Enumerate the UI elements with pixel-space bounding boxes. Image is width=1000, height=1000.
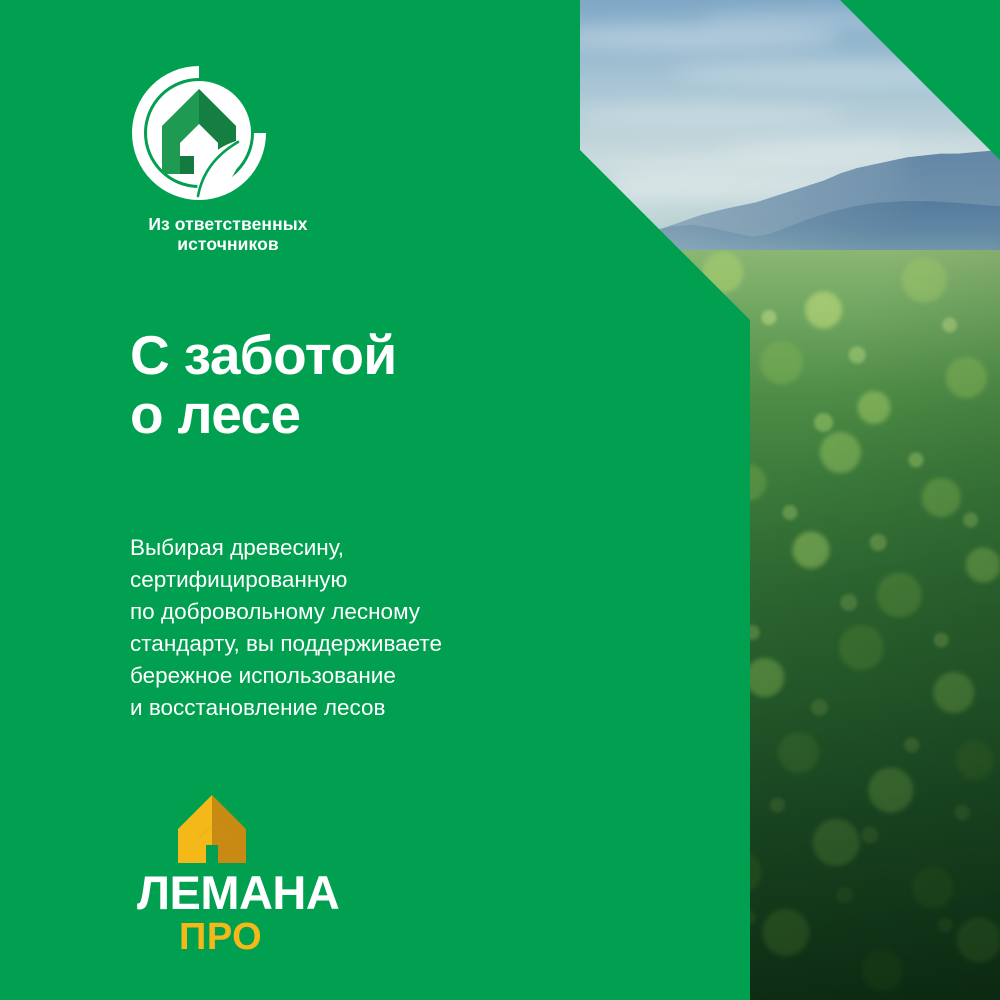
certification-badge: Из ответственных источников [128,62,358,255]
certification-badge-caption: Из ответственных источников [128,214,328,255]
headline: С заботой о лесе [130,326,397,445]
body-copy: Выбирая древесину, сертифицированную по … [130,532,442,724]
poster-content: Из ответственных источников С заботой о … [0,0,1000,1000]
brand-name: ЛЕМАНА [137,869,337,916]
poster-canvas: Из ответственных источников С заботой о … [0,0,1000,1000]
brand-lockup: ЛЕМАНА ПРО [137,793,337,956]
lemana-house-icon [173,793,251,865]
responsible-sources-emblem-icon [128,62,270,204]
brand-sub-name: ПРО [179,918,337,956]
